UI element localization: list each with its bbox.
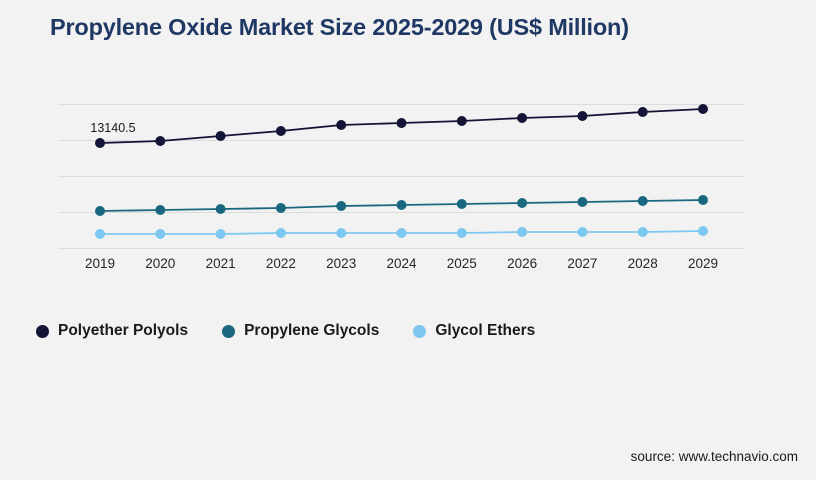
x-axis-tick-label: 2024 xyxy=(386,256,416,271)
data-point xyxy=(95,229,105,239)
x-axis-tick-label: 2020 xyxy=(145,256,175,271)
data-point xyxy=(216,204,226,214)
x-axis-tick-label: 2019 xyxy=(85,256,115,271)
data-point xyxy=(336,228,346,238)
data-point xyxy=(517,198,527,208)
x-axis-tick-label: 2023 xyxy=(326,256,356,271)
data-point xyxy=(397,200,407,210)
data-point-label: 13140.5 xyxy=(90,121,135,135)
data-point xyxy=(698,104,708,114)
data-point xyxy=(638,196,648,206)
data-point xyxy=(155,229,165,239)
data-point xyxy=(216,131,226,141)
data-point xyxy=(155,136,165,146)
data-point xyxy=(216,229,226,239)
data-point xyxy=(517,113,527,123)
data-point xyxy=(577,227,587,237)
data-point xyxy=(638,227,648,237)
source-note: source: www.technavio.com xyxy=(631,449,798,464)
x-axis-tick-label: 2029 xyxy=(688,256,718,271)
chart-container: Propylene Oxide Market Size 2025-2029 (U… xyxy=(0,0,816,480)
data-point xyxy=(155,205,165,215)
data-point xyxy=(336,201,346,211)
x-axis-tick-label: 2026 xyxy=(507,256,537,271)
data-point xyxy=(577,111,587,121)
legend-marker-icon xyxy=(413,325,426,338)
data-point xyxy=(276,203,286,213)
x-axis-tick-label: 2027 xyxy=(567,256,597,271)
data-point xyxy=(457,116,467,126)
data-point xyxy=(336,120,346,130)
legend-label: Polyether Polyols xyxy=(58,322,188,340)
data-point xyxy=(457,199,467,209)
data-point xyxy=(698,195,708,205)
data-point xyxy=(638,107,648,117)
legend-label: Glycol Ethers xyxy=(435,322,535,340)
x-axis-tick-label: 2022 xyxy=(266,256,296,271)
chart-plot-area xyxy=(0,0,816,300)
data-point xyxy=(397,228,407,238)
data-point xyxy=(577,197,587,207)
data-point xyxy=(276,228,286,238)
data-point xyxy=(397,118,407,128)
legend-label: Propylene Glycols xyxy=(244,322,379,340)
data-point xyxy=(698,226,708,236)
chart-legend: Polyether PolyolsPropylene GlycolsGlycol… xyxy=(36,322,569,340)
legend-marker-icon xyxy=(222,325,235,338)
data-point xyxy=(457,228,467,238)
legend-item[interactable]: Polyether Polyols xyxy=(36,322,188,340)
legend-item[interactable]: Propylene Glycols xyxy=(222,322,379,340)
series-points xyxy=(95,104,708,239)
x-axis-tick-label: 2021 xyxy=(206,256,236,271)
data-point xyxy=(95,206,105,216)
data-point xyxy=(276,126,286,136)
data-point xyxy=(517,227,527,237)
legend-item[interactable]: Glycol Ethers xyxy=(413,322,535,340)
data-point xyxy=(95,138,105,148)
legend-marker-icon xyxy=(36,325,49,338)
x-axis-tick-label: 2028 xyxy=(628,256,658,271)
x-axis-tick-label: 2025 xyxy=(447,256,477,271)
